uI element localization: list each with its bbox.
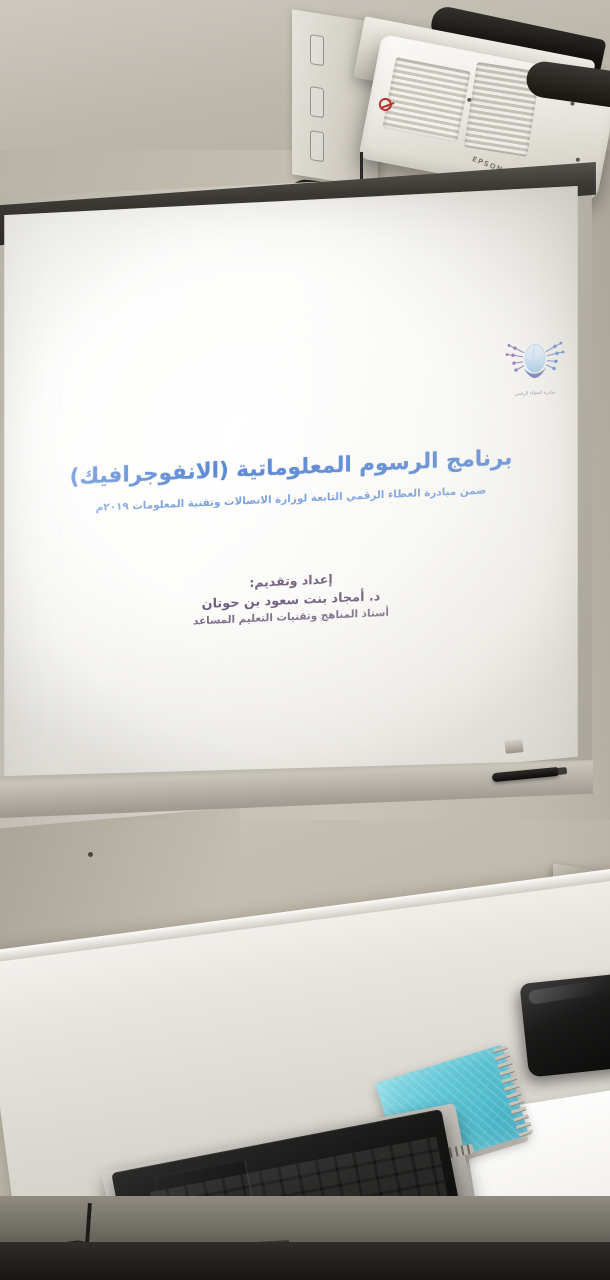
wall-screw-hole xyxy=(88,852,93,857)
floor-shadow xyxy=(0,1242,610,1280)
black-bag xyxy=(519,972,610,1077)
initiative-logo: مبادرة العطاء الرقمي xyxy=(499,337,571,408)
slide-content: مبادرة العطاء الرقمي برنامج الرسوم المعل… xyxy=(2,160,580,820)
digital-giving-initiative-logo-icon xyxy=(504,337,566,388)
classroom-photo-scene: —| | ʸ ⌐ EPSON xyxy=(0,0,610,1280)
presenter-block: إعداد وتقديم: د. أمجاد بنت سعود بن حوتان… xyxy=(2,560,580,636)
tray-clip xyxy=(504,739,523,754)
logo-caption: مبادرة العطاء الرقمي xyxy=(499,390,571,398)
projected-slide-screen: مبادرة العطاء الرقمي برنامج الرسوم المعل… xyxy=(2,186,580,820)
projector-vent-grille xyxy=(382,57,470,142)
